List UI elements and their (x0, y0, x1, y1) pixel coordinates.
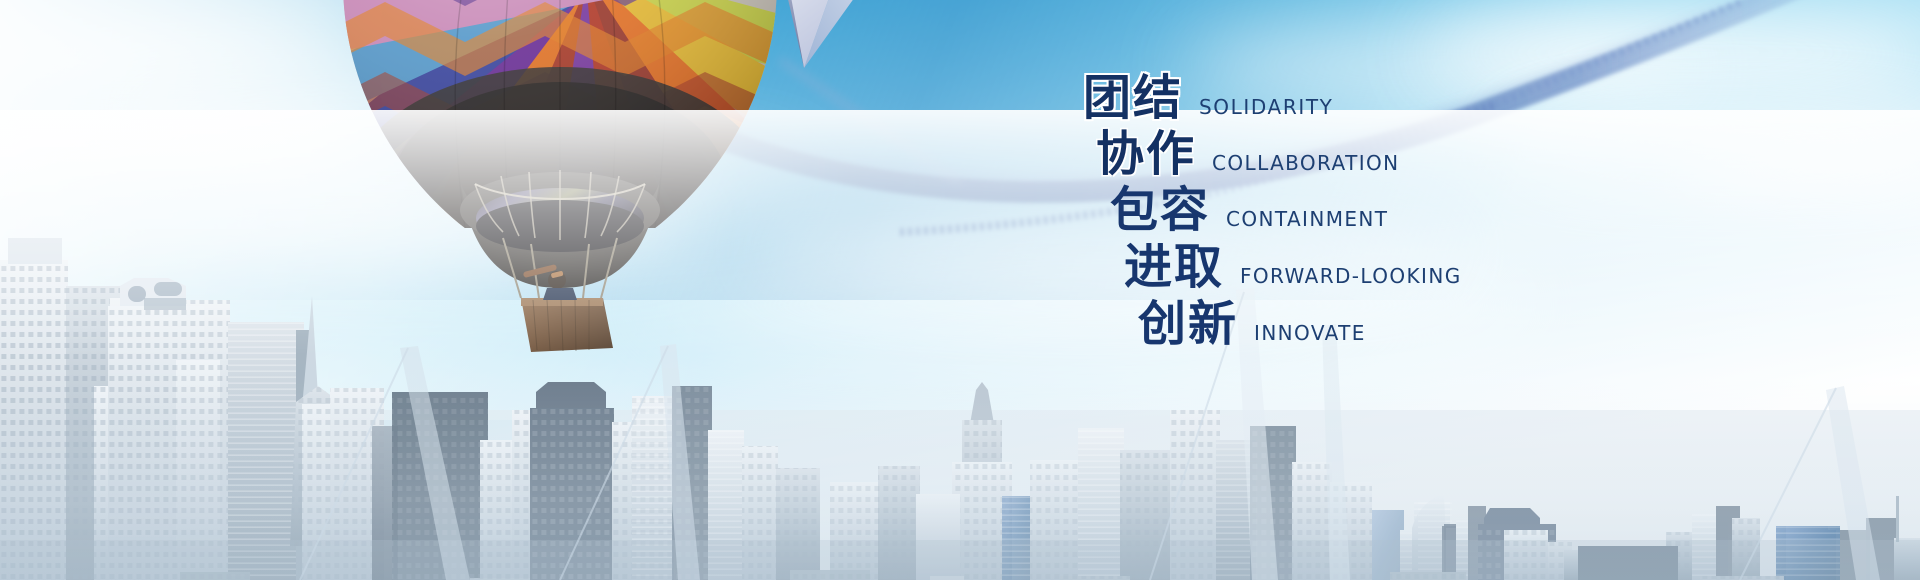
corporate-culture-banner: 团结 SOLIDARITY 协作 COLLABORATION 包容 CONTAI… (0, 0, 1920, 580)
city-skyline (0, 110, 1920, 580)
